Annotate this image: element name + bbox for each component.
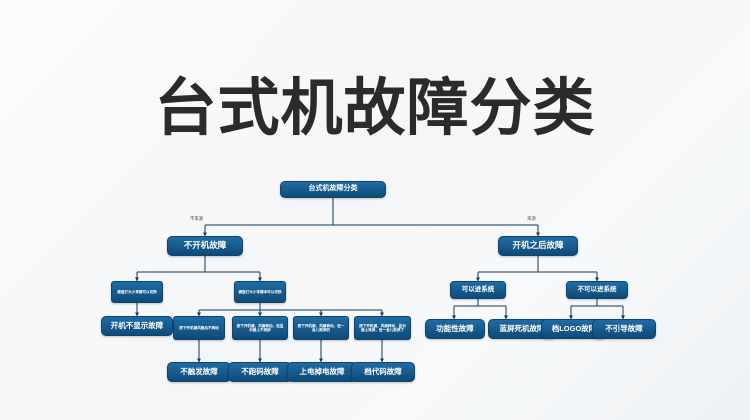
node-condition-caps-no-toggle[interactable]: 键盘灯大小写键本可以切换	[234, 281, 286, 303]
leaf-power-drop-fault[interactable]: 上电掉电故障	[287, 362, 357, 382]
leaf-stuck-code-fault[interactable]: 档代码故障	[351, 362, 415, 382]
edge-label-right: 来源	[527, 216, 536, 222]
fault-classification-diagram: 不来源 来源 台式机故障分类 不开机故障 开机之后故障 键盘灯大小写键可以切换 …	[0, 0, 750, 420]
slide-canvas: 台式机故障分类	[0, 0, 750, 420]
node-root[interactable]: 台式机故障分类	[280, 181, 386, 198]
leaf-no-display-fault[interactable]: 开机不显示故障	[101, 316, 173, 336]
edge-label-left: 不来源	[190, 216, 203, 222]
node-symptom-fan-not-spinning[interactable]: 按下开机键风扇后不转动	[173, 316, 225, 340]
node-symptom-stops-shortly[interactable]: 按下开机键，风扇转动，但一会儿就停的	[293, 316, 349, 340]
leaf-no-trigger-fault[interactable]: 不触发故障	[167, 362, 231, 382]
leaf-no-post-code-fault[interactable]: 不跑码故障	[228, 362, 292, 382]
connector-lines	[0, 0, 750, 420]
node-no-boot[interactable]: 不开机故障	[167, 236, 243, 256]
node-condition-caps-toggle[interactable]: 键盘灯大小写键可以切换	[111, 281, 163, 303]
node-can-enter-system[interactable]: 可以进系统	[450, 281, 506, 299]
node-after-boot[interactable]: 开机之后故障	[498, 236, 578, 256]
node-symptom-display-then-stops[interactable]: 按下开机键，风扇转动，显示器上亮屏，但一会儿就停了	[354, 316, 411, 340]
node-symptom-no-display[interactable]: 按下开机键，风扇转动，但显示器上不亮屏	[232, 316, 288, 340]
leaf-no-boot-device-fault[interactable]: 不引导故障	[592, 319, 656, 339]
leaf-functional-fault[interactable]: 功能性故障	[425, 319, 485, 339]
node-cannot-enter-system[interactable]: 不可以进系统	[566, 281, 628, 299]
